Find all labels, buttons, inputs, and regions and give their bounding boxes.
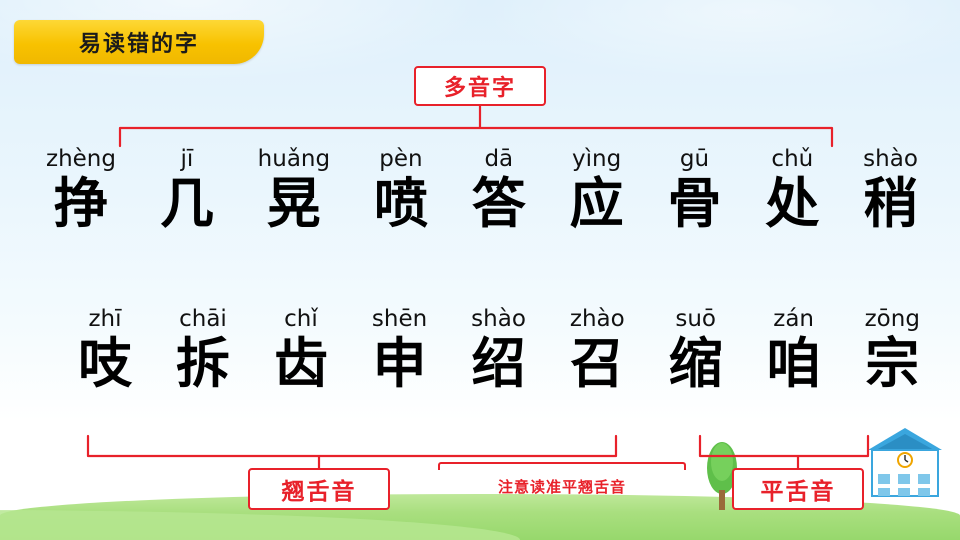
page-title: 易读错的字 (79, 26, 199, 58)
hanzi-text: 绍 (472, 337, 526, 391)
character-cell: shào 稍 (863, 148, 918, 231)
label-qiaosheyin: 翘舌音 (248, 468, 390, 510)
pinyin-text: chāi (179, 308, 227, 331)
character-cell: zhào 召 (570, 308, 625, 391)
character-cell: pèn 喷 (374, 148, 428, 231)
character-cell: zán 咱 (767, 308, 821, 391)
pinyin-text: pèn (379, 148, 422, 171)
label-pingsheyin: 平舌音 (732, 468, 864, 510)
character-cell: shào 绍 (471, 308, 526, 391)
note-text: 注意读准平翘舌音 (446, 470, 678, 502)
slide-canvas: 易读错的字 多音字 翘舌音 平舌音 注意读准平翘舌音 zhèng 挣 jī 几 … (0, 0, 960, 540)
pinyin-text: chǐ (284, 308, 318, 331)
slide-title-tag: 易读错的字 (14, 20, 264, 64)
character-cell: chāi 拆 (176, 308, 230, 391)
hanzi-text: 拆 (176, 337, 230, 391)
character-cell: gū 骨 (667, 148, 721, 231)
character-cell: yìng 应 (570, 148, 624, 231)
hanzi-text: 缩 (669, 337, 723, 391)
pinyin-text: zán (773, 308, 814, 331)
hanzi-text: 喷 (374, 177, 428, 231)
pinyin-text: gū (680, 148, 709, 171)
pinyin-text: shào (863, 148, 918, 171)
pinyin-text: jī (180, 148, 193, 171)
character-cell: chǔ 处 (765, 148, 819, 231)
character-cell: chǐ 齿 (274, 308, 328, 391)
hanzi-text: 骨 (667, 177, 721, 231)
pinyin-text: yìng (572, 148, 621, 171)
hanzi-text: 申 (373, 337, 427, 391)
character-row-shengmu: zhī 吱 chāi 拆 chǐ 齿 shēn 申 shào 绍 zhào 召 … (78, 308, 920, 391)
pinyin-text: huǎng (258, 148, 330, 171)
hanzi-text: 应 (570, 177, 624, 231)
pinyin-text: zhào (570, 308, 625, 331)
hanzi-text: 几 (160, 177, 214, 231)
character-cell: zhī 吱 (78, 308, 132, 391)
pinyin-text: shēn (372, 308, 427, 331)
hanzi-text: 吱 (78, 337, 132, 391)
hanzi-text: 宗 (865, 337, 919, 391)
hanzi-text: 召 (570, 337, 624, 391)
pinyin-text: suō (675, 308, 716, 331)
pinyin-text: zhèng (46, 148, 116, 171)
character-cell: suō 缩 (669, 308, 723, 391)
hanzi-text: 挣 (54, 177, 108, 231)
character-cell: dā 答 (472, 148, 526, 231)
label-duoyinzi: 多音字 (414, 66, 546, 106)
hanzi-text: 晃 (267, 177, 321, 231)
character-cell: huǎng 晃 (258, 148, 330, 231)
note-bracket (438, 462, 686, 470)
character-cell: jī 几 (160, 148, 214, 231)
character-cell: shēn 申 (372, 308, 427, 391)
character-cell: zōng 宗 (865, 308, 920, 391)
pinyin-text: chǔ (771, 148, 813, 171)
hanzi-text: 咱 (767, 337, 821, 391)
school-house-icon (862, 424, 948, 510)
character-cell: zhèng 挣 (46, 148, 116, 231)
pinyin-text: dā (484, 148, 513, 171)
note-callout: 注意读准平翘舌音 (438, 462, 686, 510)
pinyin-text: zōng (865, 308, 920, 331)
hanzi-text: 答 (472, 177, 526, 231)
pinyin-text: shào (471, 308, 526, 331)
hanzi-text: 稍 (864, 177, 918, 231)
character-row-duoyinzi: zhèng 挣 jī 几 huǎng 晃 pèn 喷 dā 答 yìng 应 g… (46, 148, 918, 231)
hanzi-text: 处 (765, 177, 819, 231)
hanzi-text: 齿 (274, 337, 328, 391)
pinyin-text: zhī (88, 308, 121, 331)
